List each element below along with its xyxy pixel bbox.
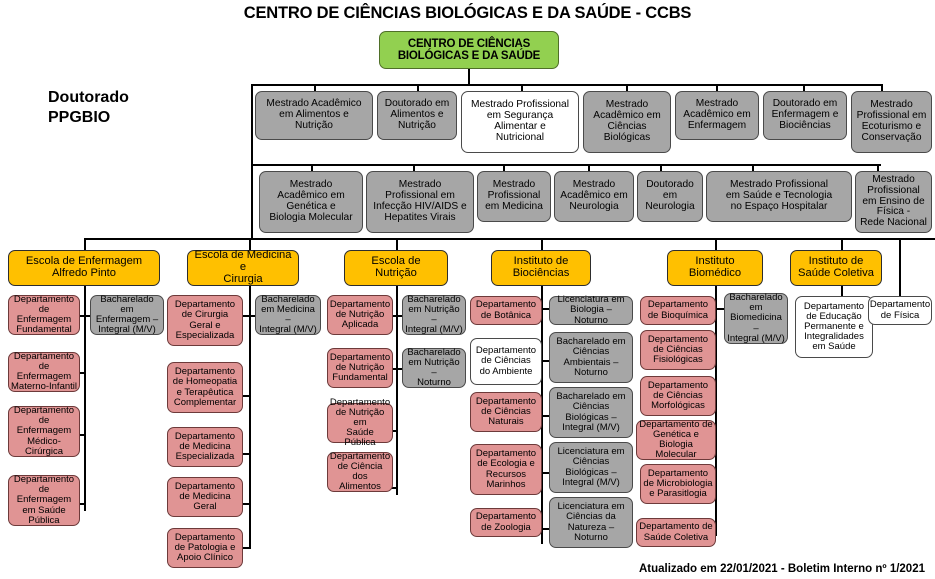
node-program-seguranca-alimentar[interactable]: Mestrado Profissional em Segurança Alime… [461,91,579,153]
node-program-mestrado-neurologia[interactable]: Mestrado Acadêmico em Neurologia [554,171,634,222]
connector-root-stem [468,69,470,85]
node-program-infeccao-hiv-aids[interactable]: Mestrado Profissional em Infecção HIV/AI… [366,171,474,233]
unit-escola-medicina-cirurgia[interactable]: Escola de Medicina e Cirurgia [187,250,299,286]
connector-left-trunk [251,84,253,238]
dept-saude-coletiva[interactable]: Departamento de Saúde Coletiva [636,518,716,547]
dept-nutricao-fundamental[interactable]: Departamento de Nutrição Fundamental [327,348,393,388]
unit-instituto-biociencias[interactable]: Instituto de Biociências [491,250,591,286]
connector-unit-drop-enfermagem [84,238,86,250]
dept-enfermagem-medico-cirurgica[interactable]: Departamento de Enfermagem Médico- Cirúr… [8,406,80,457]
node-program-ensino-fisica-rede-nacional[interactable]: Mestrado Profissional em Ensino de Físic… [855,171,932,233]
dept-cirurgia-geral-especializada[interactable]: Departamento de Cirurgia Geral e Especia… [167,295,243,346]
connector-unit-drop-biomedico [715,238,717,250]
org-chart-canvas: CENTRO DE CIÊNCIAS BIOLÓGICAS E DA SAÚDE… [0,0,935,579]
node-program-mestrado-medicina[interactable]: Mestrado Profissional em Medicina [477,171,551,222]
course-bacharelado-nutricao-integral[interactable]: Bacharelado em Nutrição – Integral (M/V) [402,295,466,335]
node-program-mestrado-alimentos-nutricao[interactable]: Mestrado Acadêmico em Alimentos e Nutriç… [255,91,373,140]
side-label-doutorado-ppgbio: Doutorado PPGBIO [48,88,129,128]
node-root-ccbs[interactable]: CENTRO DE CIÊNCIAS BIOLÓGICAS E DA SAÚDE [379,31,559,69]
connector-unit-drop-saude-coletiva [841,238,843,250]
dept-bioquimica[interactable]: Departamento de Bioquímica [640,296,716,325]
dept-enfermagem-materno-infantil[interactable]: Departamento de Enfermagem Materno-Infan… [8,352,80,392]
connector-unit-drop-nutricao [396,238,398,250]
dept-ciencias-do-ambiente[interactable]: Departamento de Ciências do Ambiente [470,338,542,385]
dept-ciencias-fisiologicas[interactable]: Departamento de Ciências Fisiológicas [640,330,716,370]
dept-medicina-especializada[interactable]: Departamento de Medicina Especializada [167,427,243,467]
connector-unit-drop-fisica [899,238,901,296]
dept-ecologia-recursos-marinhos[interactable]: Departamento de Ecologia e Recursos Mari… [470,444,542,495]
footer-update-note: Atualizado em 22/01/2021 - Boletim Inter… [639,563,925,575]
spine-enfermagem [84,286,86,511]
connector-units-bus [84,238,935,240]
dept-homeopatia-terapeutica[interactable]: Departamento de Homeopatia e Terapêutica… [167,362,243,413]
spine-medicina [249,286,251,548]
dept-educacao-permanente-integralidades[interactable]: Departamento de Educação Permanente e In… [795,296,873,358]
node-program-saude-tecnologia-hospitalar[interactable]: Mestrado Profissional em Saúde e Tecnolo… [706,171,852,222]
dept-fisica[interactable]: Departamento de Física [868,296,932,325]
dept-ciencias-naturais[interactable]: Departamento de Ciências Naturais [470,392,542,432]
course-bacharelado-biomedicina-integral[interactable]: Bacharelado em Biomedicina – Integral (M… [724,293,788,344]
connector-row1-bus [251,84,881,86]
node-program-mestrado-ciencias-biologicas[interactable]: Mestrado Acadêmico em Ciências Biológica… [583,91,671,153]
course-licenciatura-ciencias-natureza[interactable]: Licenciatura em Ciências da Natureza – N… [549,497,633,548]
connector-row2-bus [251,164,881,166]
course-bacharelado-medicina-integral[interactable]: Bacharelado em Medicina – Integral (M/V) [255,295,321,335]
dept-ciencias-morfologicas[interactable]: Departamento de Ciências Morfológicas [640,376,716,416]
unit-escola-enfermagem-alfredo-pinto[interactable]: Escola de Enfermagem Alfredo Pinto [8,250,160,286]
course-bacharelado-enfermagem-integral[interactable]: Bacharelado em Enfermagem – Integral (M/… [90,295,164,335]
connector-unit-drop-biociencias [541,238,543,250]
spine-nutricao [396,286,398,495]
dept-enfermagem-saude-publica[interactable]: Departamento de Enfermagem em Saúde Públ… [8,475,80,526]
node-program-doutorado-enfermagem-biociencias[interactable]: Doutorado em Enfermagem e Biociências [763,91,847,140]
node-program-doutorado-neurologia[interactable]: Doutorado em Neurologia [637,171,703,222]
unit-instituto-saude-coletiva[interactable]: Instituto de Saúde Coletiva [790,250,882,286]
unit-instituto-biomedico[interactable]: Instituto Biomédico [667,250,763,286]
spine-saude-coletiva [841,286,843,296]
course-bacharelado-nutricao-noturno[interactable]: Bacharelado em Nutrição – Noturno [402,348,466,388]
node-program-genetica-biologia-molecular[interactable]: Mestrado Acadêmico em Genética e Biologi… [259,171,363,233]
connector-unit-drop-medicina [249,238,251,250]
dept-patologia-apoio-clinico[interactable]: Departamento de Patologia e Apoio Clínic… [167,528,243,568]
node-program-mestrado-ecoturismo[interactable]: Mestrado Profissional em Ecoturismo e Co… [851,91,932,153]
node-program-mestrado-enfermagem[interactable]: Mestrado Acadêmico em Enfermagem [675,91,759,140]
dept-enfermagem-fundamental[interactable]: Departamento de Enfermagem Fundamental [8,295,80,335]
dept-nutricao-saude-publica[interactable]: Departamento de Nutrição em Saúde Públic… [327,403,393,443]
dept-botanica[interactable]: Departamento de Botânica [470,296,542,325]
dept-ciencia-dos-alimentos[interactable]: Departamento de Ciência dos Alimentos [327,452,393,492]
dept-genetica-biologia-molecular[interactable]: Departamento de Genética e Biologia Mole… [636,420,716,460]
node-program-doutorado-alimentos-nutricao[interactable]: Doutorado em Alimentos e Nutrição [377,91,457,140]
unit-escola-nutricao[interactable]: Escola de Nutrição [344,250,448,286]
page-title: CENTRO DE CIÊNCIAS BIOLÓGICAS E DA SAÚDE… [0,4,935,23]
dept-microbiologia-parasitologia[interactable]: Departamento de Microbiologia e Parasitl… [640,464,716,504]
dept-medicina-geral[interactable]: Departamento de Medicina Geral [167,477,243,517]
course-licenciatura-ciencias-biologicas[interactable]: Licenciatura em Ciências Biológicas – In… [549,442,633,493]
dept-nutricao-aplicada[interactable]: Departamento de Nutrição Aplicada [327,295,393,335]
course-licenciatura-biologia-noturno[interactable]: Licenciatura em Biologia – Noturno [549,296,633,325]
dept-zoologia[interactable]: Departamento de Zoologia [470,508,542,537]
course-bacharelado-ciencias-ambientais[interactable]: Bacharelado em Ciências Ambientais – Not… [549,332,633,383]
course-bacharelado-ciencias-biologicas[interactable]: Bacharelado em Ciências Biológicas – Int… [549,387,633,438]
